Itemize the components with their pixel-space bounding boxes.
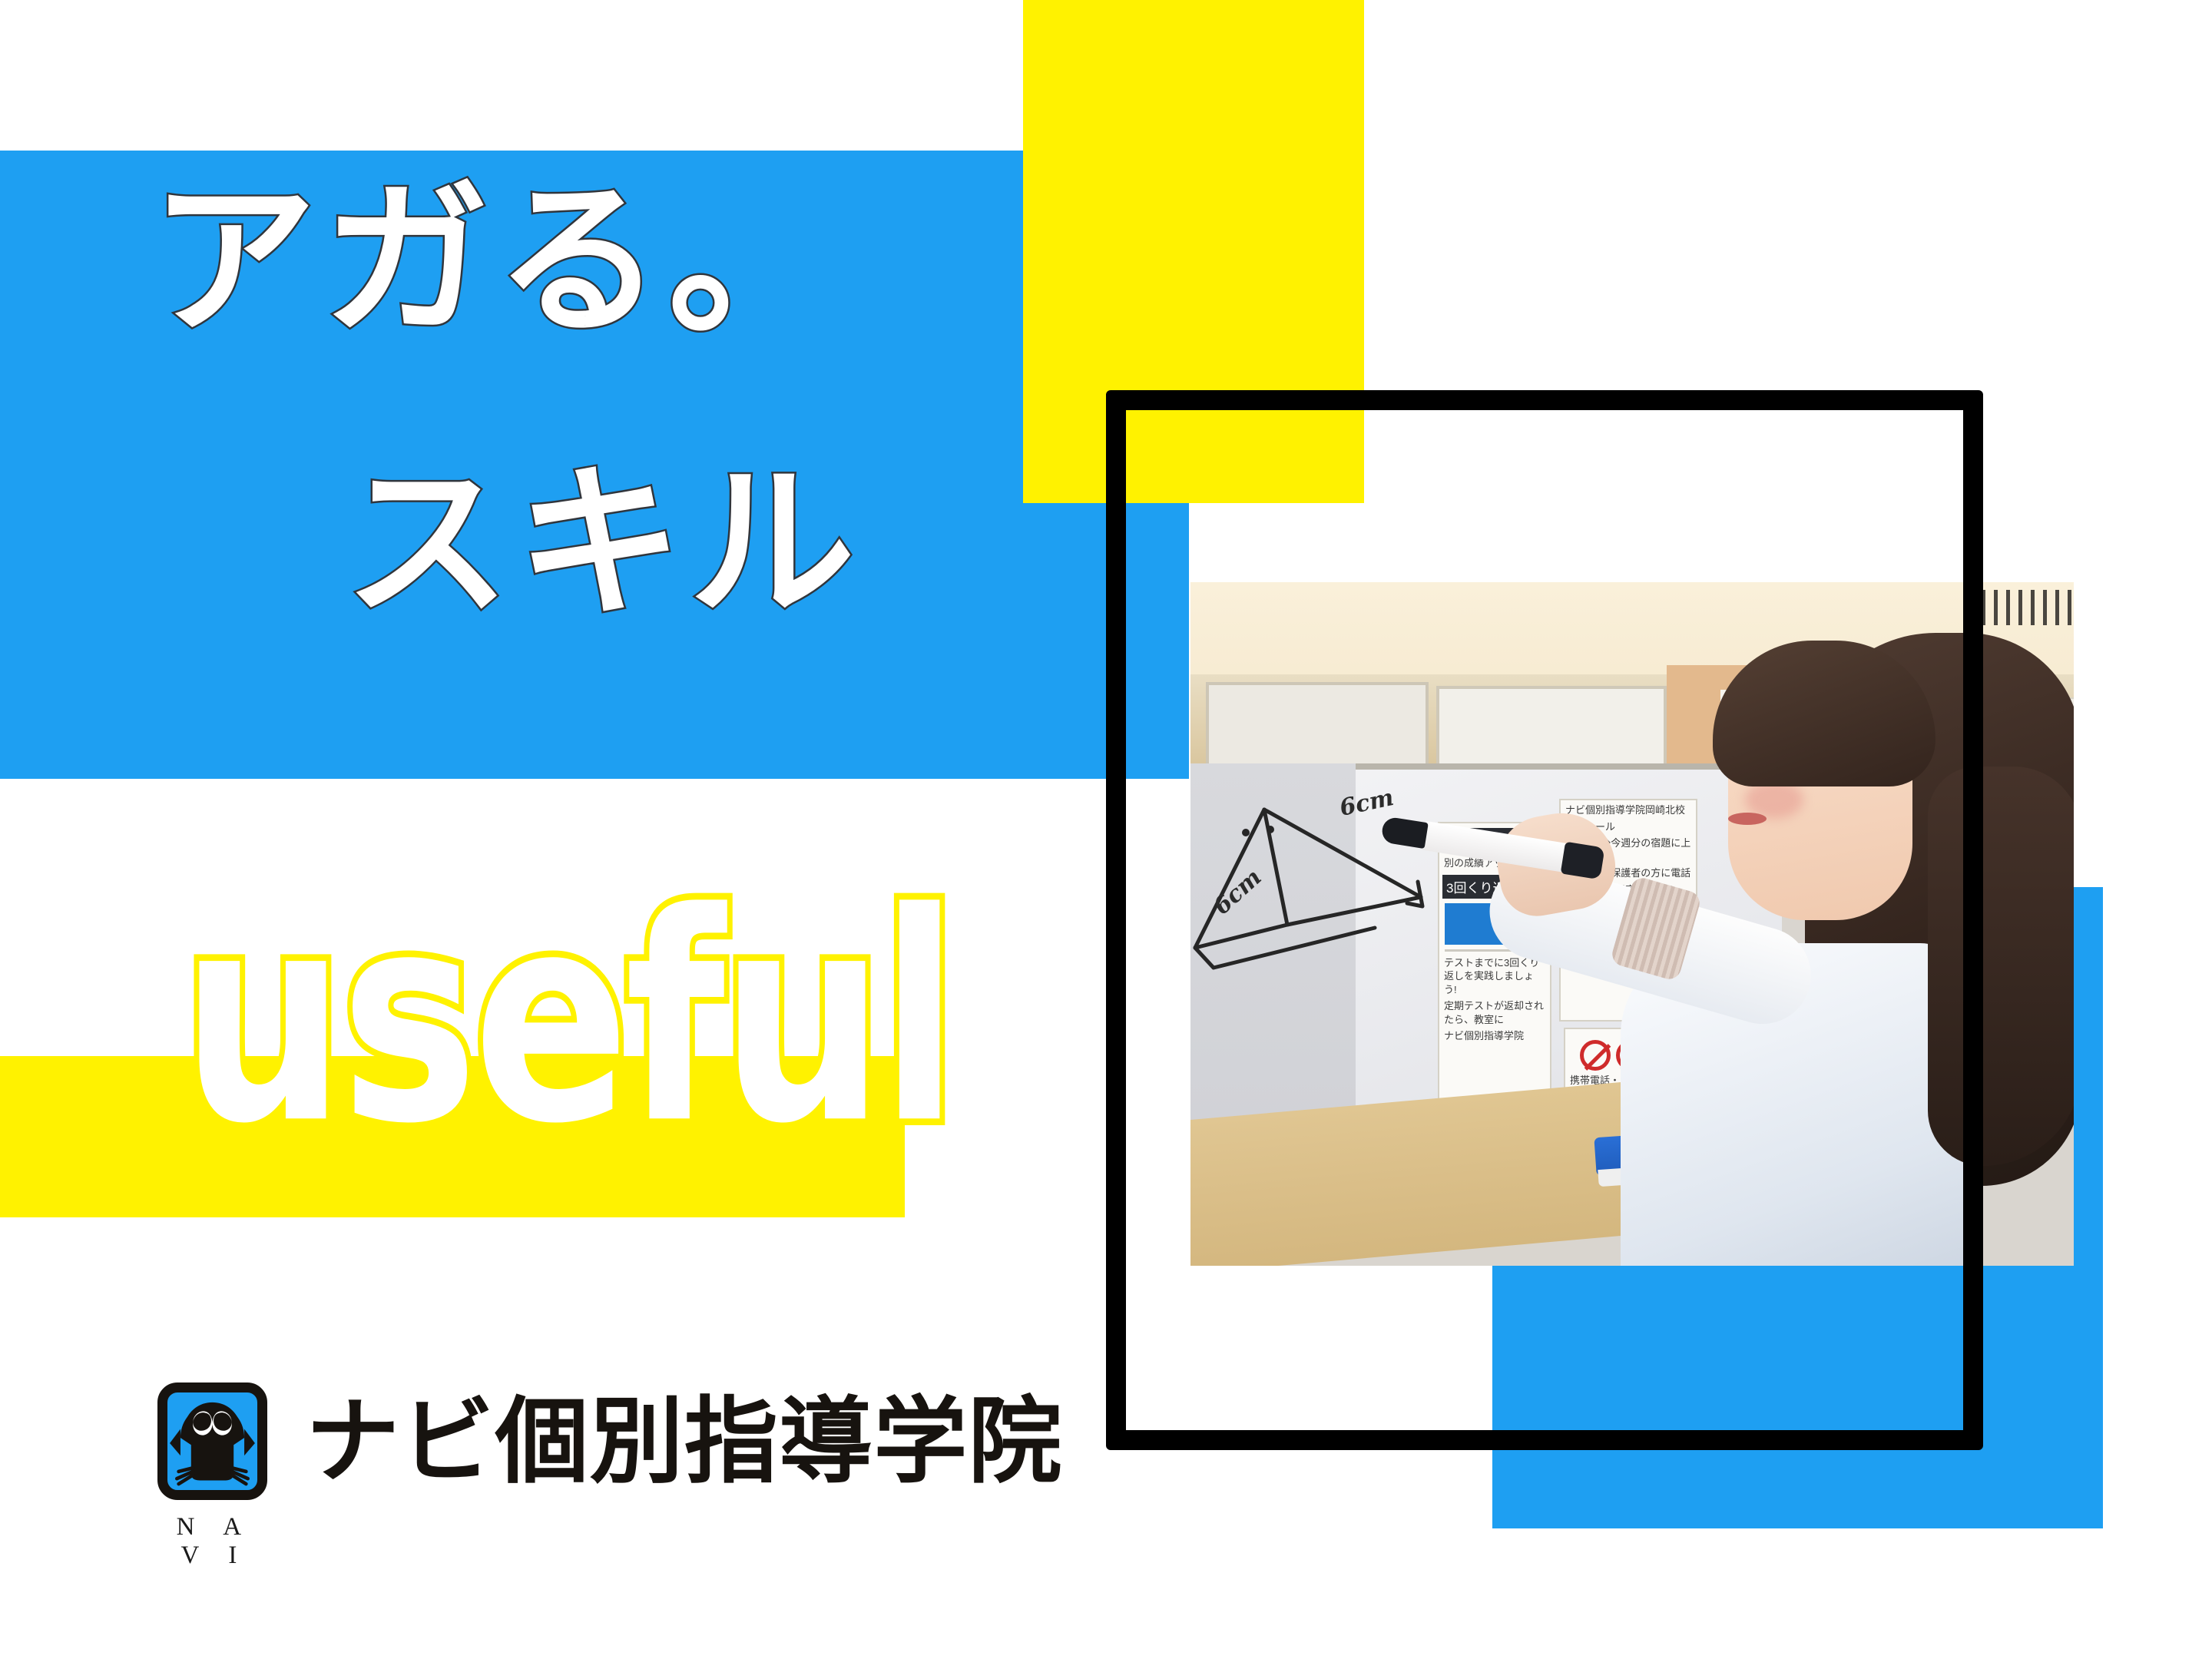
poster-canvas: アガる。 スキル useful B	[0, 0, 2212, 1659]
photo-coat-hooks	[1982, 590, 2074, 625]
tagline-useful: useful	[181, 876, 955, 1164]
navi-frog-mascot-icon	[157, 1382, 267, 1500]
headline-line-1: アガる。	[151, 178, 841, 344]
headline-line-2: スキル	[344, 461, 862, 627]
photo-black-frame	[1106, 390, 1983, 1450]
logo-brand-name: ナビ個別指導学院	[306, 1395, 1063, 1488]
logo-navi-text: N A V I	[159, 1513, 270, 1570]
